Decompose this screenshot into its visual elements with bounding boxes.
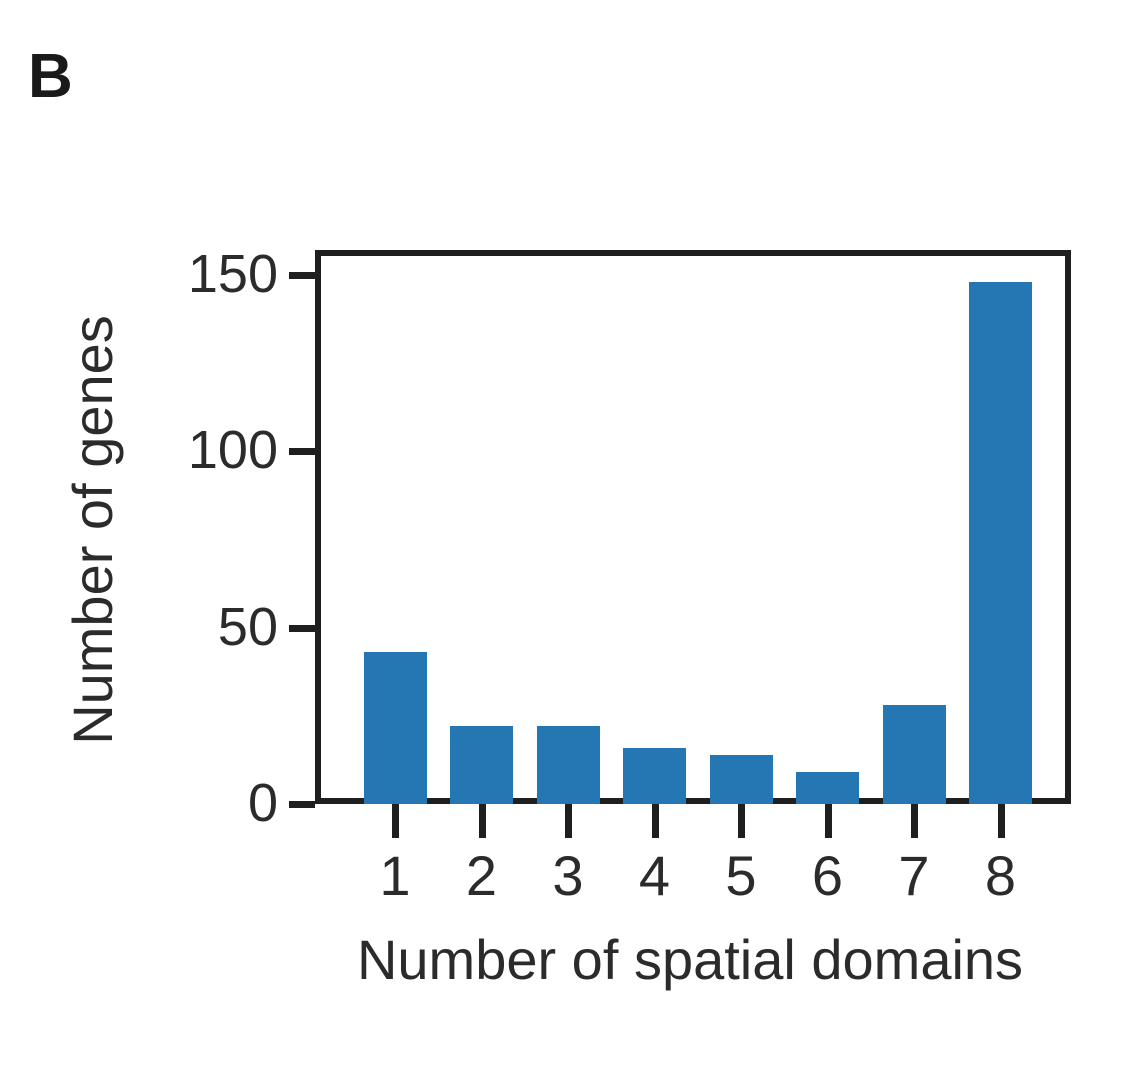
y-tick-label: 150 (120, 247, 278, 301)
y-tick-mark (289, 801, 315, 808)
x-tick-label: 8 (971, 848, 1031, 904)
bar (796, 772, 859, 804)
x-tick-mark (392, 804, 399, 838)
y-tick-label: 100 (120, 423, 278, 477)
y-tick-mark (289, 448, 315, 455)
x-tick-mark (565, 804, 572, 838)
panel-label: B (28, 46, 73, 108)
bar (450, 726, 513, 804)
x-tick-mark (652, 804, 659, 838)
bar (537, 726, 600, 804)
x-tick-mark (738, 804, 745, 838)
x-tick-label: 6 (798, 848, 858, 904)
x-tick-label: 7 (884, 848, 944, 904)
y-tick-label: 50 (120, 600, 278, 654)
y-tick-mark (289, 625, 315, 632)
bar (883, 705, 946, 804)
figure-panel-b: B Number of genes 050100150 12345678 Num… (0, 0, 1144, 1080)
bar (623, 748, 686, 804)
y-tick-mark (289, 272, 315, 279)
x-tick-mark (825, 804, 832, 838)
bar (364, 652, 427, 804)
x-tick-mark (998, 804, 1005, 838)
x-tick-label: 4 (625, 848, 685, 904)
x-axis-title: Number of spatial domains (250, 932, 1130, 988)
x-tick-label: 2 (452, 848, 512, 904)
x-tick-label: 1 (365, 848, 425, 904)
x-tick-label: 5 (711, 848, 771, 904)
y-tick-label: 0 (120, 776, 278, 830)
x-tick-mark (911, 804, 918, 838)
bar (969, 282, 1032, 804)
x-tick-label: 3 (538, 848, 598, 904)
x-tick-mark (479, 804, 486, 838)
bar-series (315, 250, 1071, 804)
y-axis-title: Number of genes (58, 250, 128, 810)
bar (710, 755, 773, 804)
